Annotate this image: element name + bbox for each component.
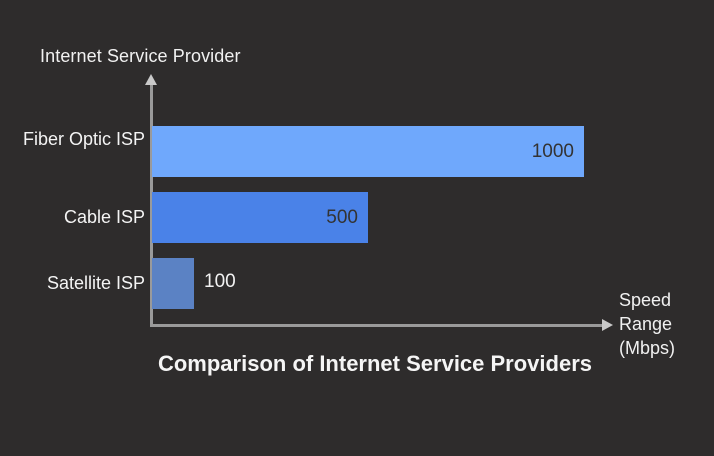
bar-value-label: 100 [204,271,236,293]
bar-category-label: Satellite ISP [0,270,145,296]
bar-satellite-isp[interactable] [152,258,194,309]
plot-area: Fiber Optic ISP 1000 Cable ISP 500 Satel… [0,0,714,456]
bar-value-label: 1000 [532,141,574,163]
bar-category-label: Fiber Optic ISP [0,126,145,152]
bar-chart: Internet Service Provider Speed Range (M… [0,0,714,456]
bar-fiber-optic-isp[interactable]: 1000 [152,126,584,177]
bar-category-label: Cable ISP [0,204,145,230]
chart-title: Comparison of Internet Service Providers [157,348,593,380]
bar-value-label: 500 [326,207,358,229]
bar-cable-isp[interactable]: 500 [152,192,368,243]
